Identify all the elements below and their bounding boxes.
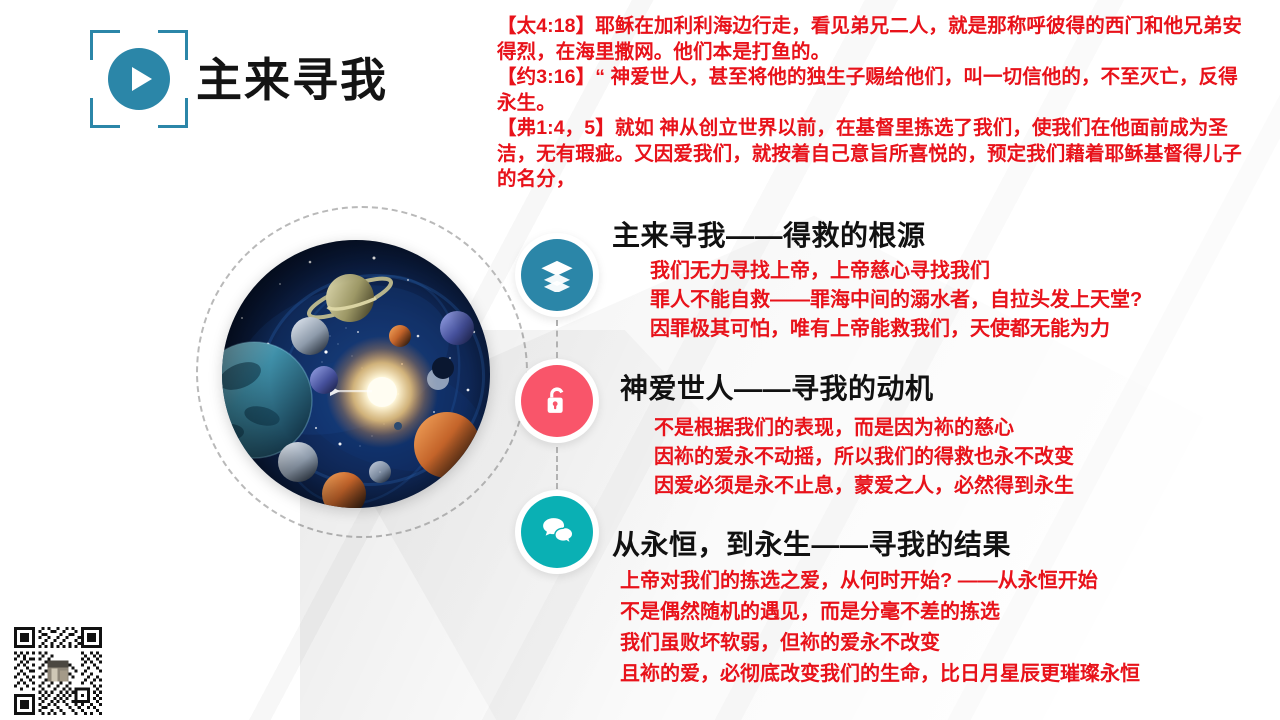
page-title: 主来寻我 bbox=[196, 44, 388, 110]
section-1-line-3: 因罪极其可怕，唯有上帝能救我们，天使都无能为力 bbox=[650, 315, 1142, 344]
layers-icon bbox=[540, 258, 574, 292]
section-3-line-1: 上帝对我们的拣选之爱，从何时开始? ——从永恒开始 bbox=[620, 566, 1140, 597]
scripture-block: 【太4:18】耶稣在加利利海边行走，看见弟兄二人，就是那称呼彼得的西门和他兄弟安… bbox=[497, 14, 1245, 193]
connector-line-2 bbox=[556, 447, 558, 489]
section-3: 从永恒，到永生——寻我的结果 上帝对我们的拣选之爱，从何时开始? ——从永恒开始… bbox=[612, 528, 1140, 690]
section-2-heading: 神爱世人——寻我的动机 bbox=[620, 372, 1074, 406]
section-2-line-3: 因爱必须是永不止息，蒙爱之人，必然得到永生 bbox=[654, 472, 1074, 501]
section-3-lines: 上帝对我们的拣选之爱，从何时开始? ——从永恒开始 不是偶然随机的遇见，而是分毫… bbox=[612, 566, 1140, 690]
brand-logo bbox=[90, 30, 188, 128]
scripture-line-1: 【太4:18】耶稣在加利利海边行走，看见弟兄二人，就是那称呼彼得的西门和他兄弟安… bbox=[497, 14, 1245, 65]
section-2: 神爱世人——寻我的动机 不是根据我们的表现，而是因为袮的慈心 因袮的爱永不动摇，… bbox=[620, 372, 1074, 501]
section-1-heading: 主来寻我——得救的根源 bbox=[612, 219, 1142, 253]
section-1-line-1: 我们无力寻找上帝，上帝慈心寻找我们 bbox=[650, 257, 1142, 286]
section-1: 主来寻我——得救的根源 我们无力寻找上帝，上帝慈心寻找我们 罪人不能自救——罪海… bbox=[612, 219, 1142, 344]
section-3-line-3: 我们虽败坏软弱，但袮的爱永不改变 bbox=[620, 628, 1140, 659]
chat-bubbles-icon bbox=[540, 515, 574, 549]
play-button-icon[interactable] bbox=[108, 48, 170, 110]
section-icon-1[interactable] bbox=[515, 233, 599, 317]
section-2-lines: 不是根据我们的表现，而是因为袮的慈心 因袮的爱永不动摇，所以我们的得救也永不改变… bbox=[620, 414, 1074, 501]
scripture-line-3: 【弗1:4，5】就如 神从创立世界以前，在基督里拣选了我们，使我们在他面前成为圣… bbox=[497, 116, 1245, 193]
unlock-icon bbox=[540, 384, 574, 418]
section-3-heading: 从永恒，到永生——寻我的结果 bbox=[612, 528, 1140, 562]
section-2-line-1: 不是根据我们的表现，而是因为袮的慈心 bbox=[654, 414, 1074, 443]
connector-line-1 bbox=[556, 320, 558, 358]
slide-canvas: 主来寻我 【太4:18】耶稣在加利利海边行走，看见弟兄二人，就是那称呼彼得的西门… bbox=[0, 0, 1280, 720]
section-1-line-2: 罪人不能自救——罪海中间的溺水者，自拉头发上天堂? bbox=[650, 286, 1142, 315]
space-solar-system-photo bbox=[222, 240, 490, 508]
qr-code[interactable] bbox=[14, 627, 102, 715]
section-3-line-4: 且袮的爱，必彻底改变我们的生命，比日月星辰更璀璨永恒 bbox=[620, 659, 1140, 690]
section-icon-2[interactable] bbox=[515, 359, 599, 443]
play-triangle-icon bbox=[132, 67, 152, 91]
section-2-line-2: 因袮的爱永不动摇，所以我们的得救也永不改变 bbox=[654, 443, 1074, 472]
section-3-line-2: 不是偶然随机的遇见，而是分毫不差的拣选 bbox=[620, 597, 1140, 628]
section-1-lines: 我们无力寻找上帝，上帝慈心寻找我们 罪人不能自救——罪海中间的溺水者，自拉头发上… bbox=[612, 257, 1142, 344]
section-icon-3[interactable] bbox=[515, 490, 599, 574]
scripture-line-2: 【约3:16】“ 神爱世人，甚至将他的独生子赐给他们，叫一切信他的，不至灭亡，反… bbox=[497, 65, 1245, 116]
